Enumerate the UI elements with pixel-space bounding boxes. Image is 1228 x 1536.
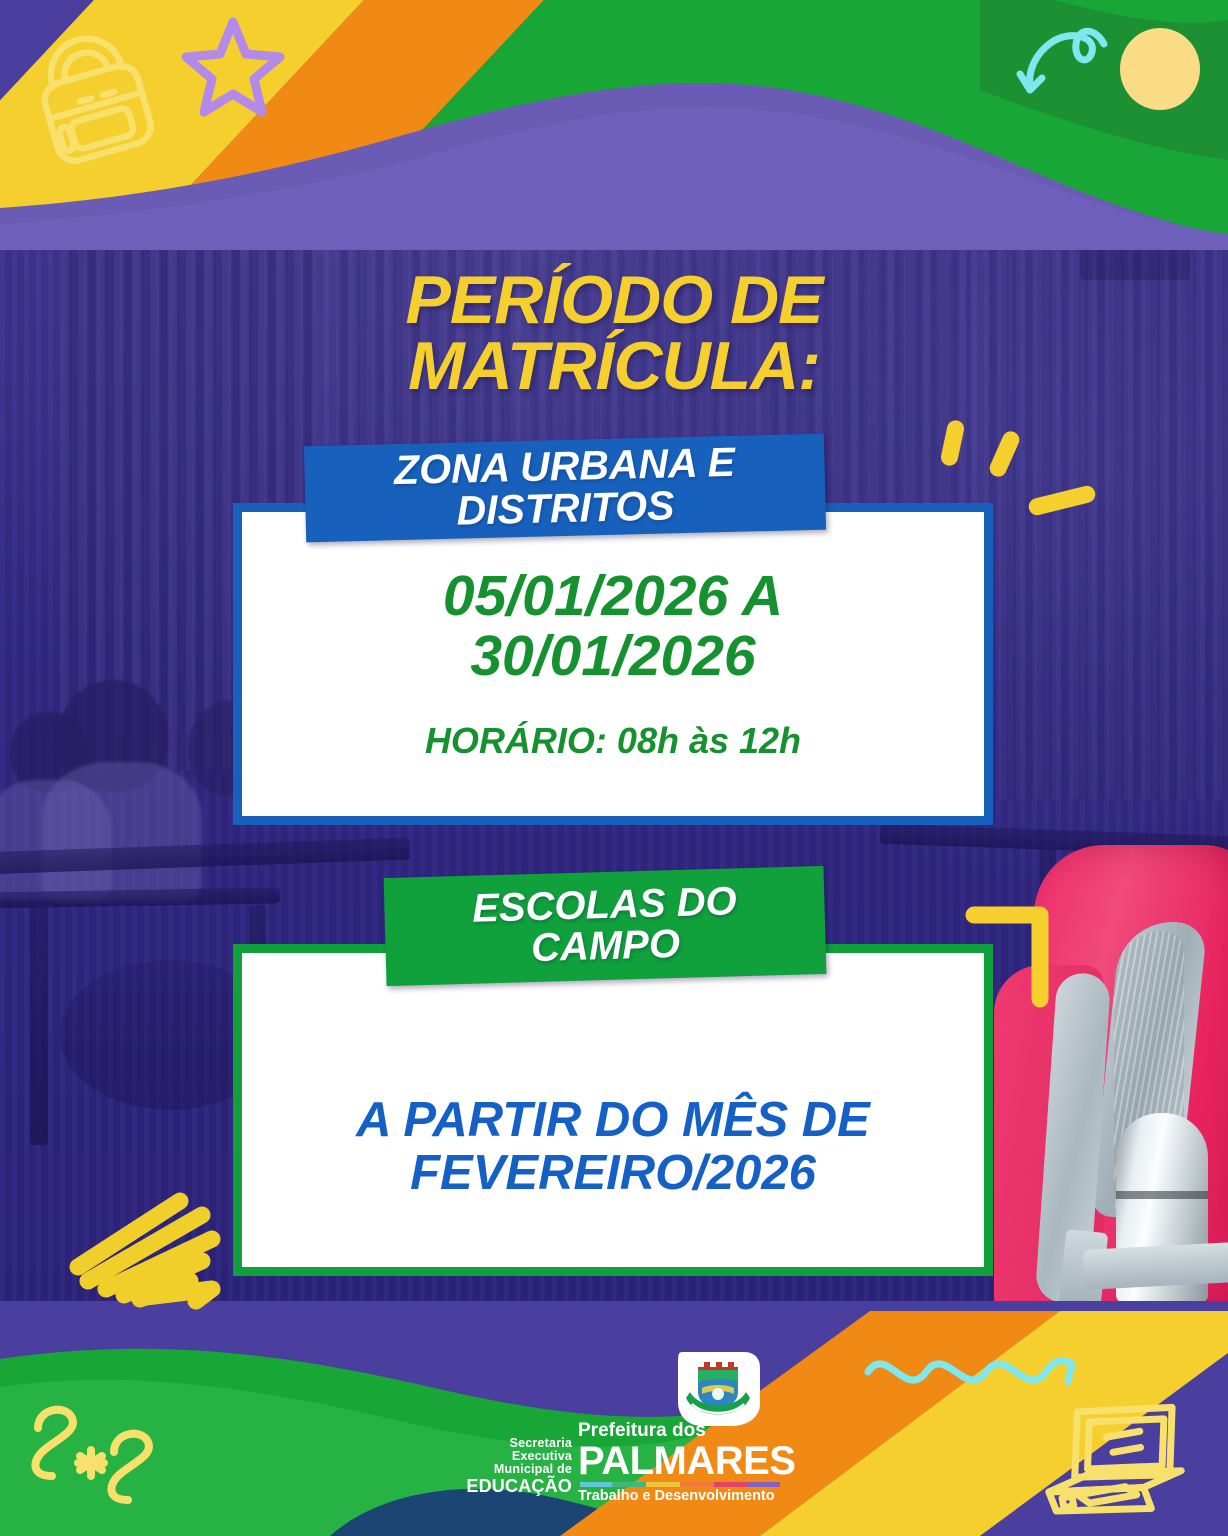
laptop-icon bbox=[1030, 1388, 1200, 1528]
palmares-city-logo: Prefeitura dos PALMARES Trabalho e Desen… bbox=[578, 1420, 808, 1504]
rural-banner-line-1: ESCOLAS DO bbox=[472, 882, 738, 930]
urban-zone-banner: ZONA URBANA E DISTRITOS bbox=[304, 434, 826, 543]
edu-line-4: EDUCAÇÃO bbox=[452, 1477, 572, 1496]
star-icon bbox=[178, 10, 288, 120]
rural-text-line-2: FEVEREIRO/2026 bbox=[356, 1147, 870, 1200]
backpack-icon bbox=[22, 18, 162, 168]
curly-arrow-icon bbox=[1008, 22, 1118, 102]
edu-line-3: Municipal de bbox=[452, 1463, 572, 1476]
poster-root: PERÍODO DE MATRÍCULA: 05/01/2026 A 30/01… bbox=[0, 0, 1228, 1536]
rural-text-line-1: A PARTIR DO MÊS DE bbox=[356, 1094, 870, 1147]
urban-banner-line-2: DISTRITOS bbox=[456, 485, 675, 532]
palmares-name: PALMARES bbox=[578, 1442, 808, 1480]
poster-title: PERÍODO DE MATRÍCULA: bbox=[0, 268, 1228, 400]
title-line-2: MATRÍCULA: bbox=[0, 334, 1228, 400]
rural-schools-banner: ESCOLAS DO CAMPO bbox=[384, 866, 827, 986]
urban-date-line-1: 05/01/2026 A bbox=[443, 566, 783, 626]
palmares-colorbars bbox=[580, 1482, 780, 1487]
urban-date-line-2: 30/01/2026 bbox=[470, 626, 755, 686]
palmares-slogan: Trabalho e Desenvolvimento bbox=[578, 1488, 808, 1504]
urban-hours: HORÁRIO: 08h às 12h bbox=[425, 720, 801, 762]
rural-banner-line-2: CAMPO bbox=[531, 924, 681, 969]
title-line-1: PERÍODO DE bbox=[0, 268, 1228, 334]
education-secretariat-logo: Secretaria Executiva Municipal de EDUCAÇ… bbox=[452, 1437, 572, 1496]
math-2x2-icon bbox=[18, 1390, 198, 1530]
sun-circle-icon bbox=[1120, 28, 1200, 110]
urban-zone-card: 05/01/2026 A 30/01/2026 HORÁRIO: 08h às … bbox=[233, 503, 993, 825]
scribble-icon bbox=[62, 1185, 252, 1315]
rural-schools-card: A PARTIR DO MÊS DE FEVEREIRO/2026 bbox=[233, 944, 993, 1276]
